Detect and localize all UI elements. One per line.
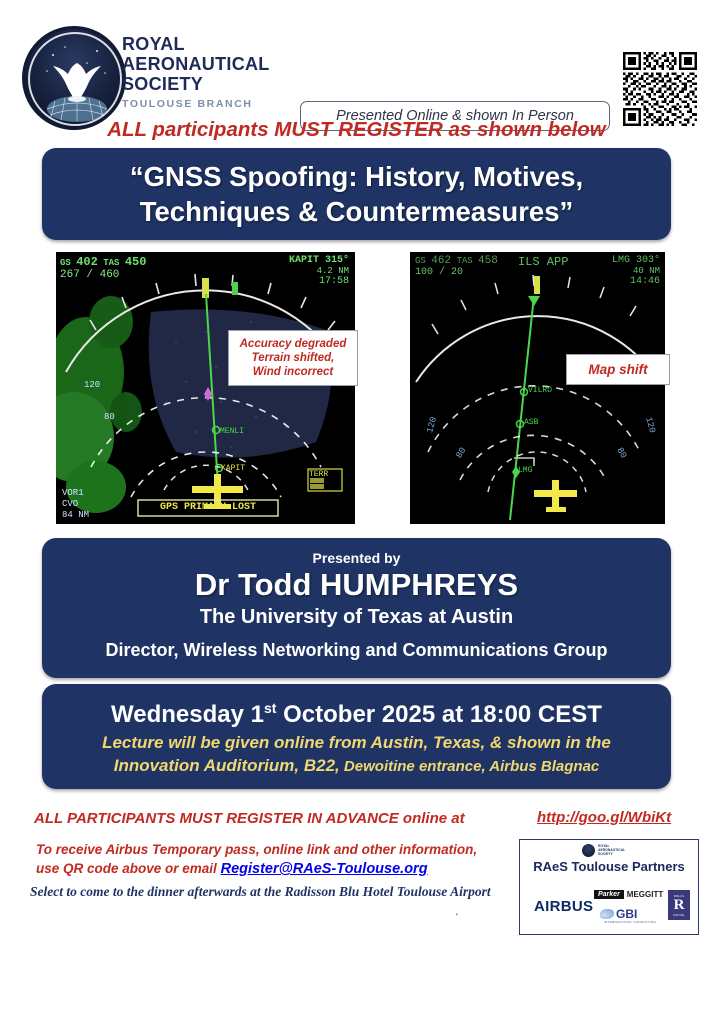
- partner-logo-airbus: AIRBUS: [534, 898, 593, 915]
- partner-logo-gbi: GBI: [600, 907, 637, 921]
- nd-left-graphic: [56, 252, 355, 524]
- event-date-prefix: Wednesday 1: [111, 701, 264, 728]
- event-date-ordinal: st: [264, 700, 276, 716]
- nd-left-wp-menli: MENLI: [220, 427, 244, 436]
- presented-by-label: Presented by: [42, 550, 671, 566]
- nd-right-time: 14:46: [612, 276, 660, 287]
- qr-code-icon[interactable]: [623, 52, 697, 126]
- lecture-title-banner: “GNSS Spoofing: History, Motives, Techni…: [42, 148, 671, 240]
- partners-box: ROYAL AERONAUTICAL SOCIETY RAeS Toulouse…: [519, 839, 699, 935]
- nd-right-wp-asb: ASB: [524, 418, 538, 427]
- nd-right-bearing: 303°: [636, 255, 660, 266]
- callout-accuracy-degraded: Accuracy degraded Terrain shifted, Wind …: [228, 330, 358, 386]
- nd-right-wp-vilro: VILRO: [528, 386, 552, 395]
- nd-right-station: LMG: [612, 255, 630, 266]
- event-date: Wednesday 1st October 2025 at 18:00 CEST: [42, 692, 671, 731]
- nd-left-nav-source: VOR1: [62, 488, 89, 499]
- nd-left-waypoint: KAPIT: [289, 255, 319, 266]
- register-advance-text: ALL PARTICIPANTS MUST REGISTER IN ADVANC…: [34, 810, 465, 827]
- register-info-text: To receive Airbus Temporary pass, online…: [36, 840, 477, 879]
- society-name: ROYAL AERONAUTICAL SOCIETY: [122, 34, 270, 94]
- nd-right-speeds: GS 462 TAS 458: [415, 255, 498, 267]
- nd-right-station-head: LMG 303°: [612, 255, 660, 266]
- partners-logo-text: ROYAL AERONAUTICAL SOCIETY: [598, 844, 625, 857]
- nd-left-alert: GPS PRIMARY LOST: [140, 502, 276, 513]
- nd-left-gs-label: GS: [60, 258, 71, 268]
- society-name-line2: AERONAUTICAL: [122, 54, 270, 74]
- parker-mark: Parker: [594, 890, 624, 899]
- nd-left-tas-value: 450: [125, 255, 147, 269]
- poster-header: ROYAL AERONAUTICAL SOCIETY TOULOUSE BRAN…: [0, 22, 713, 132]
- partners-logo-line3: SOCIETY: [598, 852, 625, 856]
- event-venue-room: Innovation Auditorium, B22,: [114, 756, 340, 775]
- presenter-affiliation: The University of Texas at Austin: [42, 604, 671, 631]
- event-venue-line2: Innovation Auditorium, B22, Dewoitine en…: [42, 754, 671, 778]
- trailing-dot: .: [455, 903, 459, 918]
- society-name-line3: SOCIETY: [122, 74, 270, 94]
- event-venue-line1: Lecture will be given online from Austin…: [42, 731, 671, 754]
- partners-raes-logo: ROYAL AERONAUTICAL SOCIETY: [582, 843, 636, 857]
- society-branch: TOULOUSE BRANCH: [122, 98, 253, 110]
- event-venue-entrance: Dewoitine entrance, Airbus Blagnac: [340, 758, 600, 775]
- nd-left-ring-80: 80: [104, 412, 115, 422]
- partners-logo-disc: [582, 844, 595, 857]
- partner-logo-rolls-royce: ROLLS R ROYCE: [668, 890, 690, 920]
- event-banner: Wednesday 1st October 2025 at 18:00 CEST…: [42, 684, 671, 789]
- eagle-globe-icon: [25, 29, 126, 130]
- lecture-title-line1: “GNSS Spoofing: History, Motives,: [130, 159, 583, 194]
- callout-left-line2: Terrain shifted,: [234, 351, 352, 365]
- callout-left-line3: Wind incorrect: [234, 365, 352, 379]
- register-info-line1: To receive Airbus Temporary pass, online…: [36, 840, 477, 859]
- nd-left-bearing: 315°: [325, 255, 349, 266]
- meggitt-text: MEGGITT: [627, 890, 663, 899]
- nd-left-nav-ident: CVO: [62, 499, 89, 510]
- lecture-title-line2: Techniques & Countermeasures”: [130, 194, 583, 229]
- nd-left-gs-value: 402: [76, 255, 98, 269]
- qr-code-svg: [623, 52, 697, 126]
- register-info-line2: use QR code above or email Register@RAeS…: [36, 859, 477, 879]
- register-email-link[interactable]: Register@RAeS-Toulouse.org: [221, 861, 428, 877]
- poster-root: ROYAL AERONAUTICAL SOCIETY TOULOUSE BRAN…: [0, 0, 713, 1024]
- nd-right-gs-value: 462: [431, 255, 451, 267]
- gbi-text: GBI: [616, 907, 637, 921]
- nd-right-tas-label: TAS: [456, 256, 472, 266]
- dinner-note: Select to come to the dinner afterwards …: [30, 884, 491, 900]
- navigation-display-right: GS 462 TAS 458 100 / 20 ILS APP LMG 303°…: [410, 252, 665, 524]
- partner-logo-parker-meggitt: Parker MEGGITT: [594, 890, 663, 899]
- nd-right-mode: ILS APP: [518, 255, 568, 269]
- nd-left-tas-label: TAS: [103, 258, 119, 268]
- register-headline: ALL participants MUST REGISTER as shown …: [0, 118, 713, 142]
- presenter-name: Dr Todd HUMPHREYS: [42, 566, 671, 604]
- gbi-mark-icon: [600, 909, 614, 919]
- society-name-line1: ROYAL: [122, 34, 270, 54]
- raes-logo-disc: [22, 26, 126, 130]
- register-info-prefix: use QR code above or email: [36, 861, 217, 876]
- nd-right-wind: 100 / 20: [415, 267, 498, 278]
- nd-left-nav-dist: 84 NM: [62, 510, 89, 521]
- nd-left-speeds: GS 402 TAS 450: [60, 255, 146, 269]
- event-date-suffix: October 2025 at 18:00 CEST: [276, 701, 601, 728]
- partners-title: RAeS Toulouse Partners: [520, 859, 698, 874]
- nd-right-distance: 40 NM: [612, 266, 660, 276]
- nd-right-tas-value: 458: [478, 255, 498, 267]
- nd-left-distance: 4.2 NM: [289, 266, 349, 276]
- nd-left-terr-label: TERR: [309, 470, 328, 479]
- rolls-royce-bottom: ROYCE: [674, 913, 685, 917]
- nd-right-gs-label: GS: [415, 256, 426, 266]
- navigation-display-left: GS 402 TAS 450 267 / 460 KAPIT 315° 4.2 …: [56, 252, 355, 524]
- nd-left-time: 17:58: [289, 276, 349, 287]
- rolls-royce-monogram: R: [674, 898, 685, 913]
- nd-left-wind: 267 / 460: [60, 269, 146, 281]
- callout-map-shift: Map shift: [566, 354, 670, 385]
- nd-left-wp-kapit: KAPIT: [221, 464, 245, 473]
- nd-right-wp-lmg: LMG: [518, 466, 532, 475]
- nd-left-ring-120: 120: [84, 380, 100, 390]
- presenter-banner: Presented by Dr Todd HUMPHREYS The Unive…: [42, 538, 671, 678]
- gbi-subtitle: INTERNATIONAL CONSULTING: [592, 920, 668, 924]
- nd-left-waypoint-head: KAPIT 315°: [289, 255, 349, 266]
- register-url-link[interactable]: http://goo.gl/WbiKt: [537, 809, 671, 826]
- callout-left-line1: Accuracy degraded: [234, 337, 352, 351]
- presenter-role: Director, Wireless Networking and Commun…: [42, 635, 671, 665]
